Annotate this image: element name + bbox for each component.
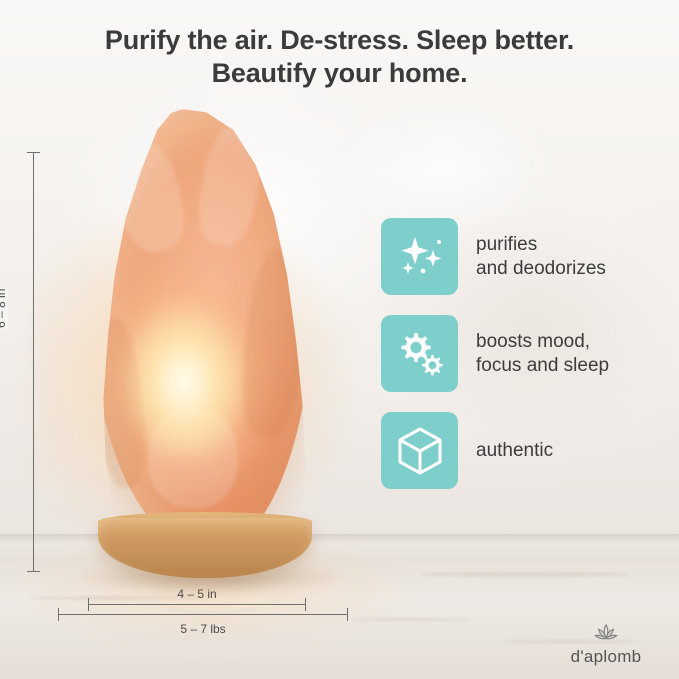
height-measure-label: 6 – 8 in [0, 285, 8, 332]
brand-name: d'aplomb [571, 647, 642, 666]
feature-item-boosts-mood: boosts mood, focus and sleep [381, 315, 669, 392]
brand-logo: d'aplomb [551, 623, 661, 667]
weight-measure-line [58, 614, 348, 615]
headline-line-1: Purify the air. De-stress. Sleep better. [105, 25, 574, 55]
weight-measure-label: 5 – 7 lbs [58, 622, 348, 636]
feature-item-authentic: authentic [381, 412, 669, 489]
width-measure-label: 4 – 5 in [88, 587, 306, 601]
feature-label: authentic [476, 439, 553, 463]
feature-item-purifies: purifies and deodorizes [381, 218, 669, 295]
feature-label: boosts mood, focus and sleep [476, 330, 609, 378]
sparkles-icon [381, 218, 458, 295]
marble-vein [420, 572, 630, 577]
salt-lamp-photo [72, 108, 332, 578]
height-measure-line [33, 152, 34, 572]
rock-facet [192, 122, 268, 250]
gears-icon [381, 315, 458, 392]
cube-icon [381, 412, 458, 489]
page-title: Purify the air. De-stress. Sleep better.… [0, 24, 679, 90]
feature-list: purifies and deodorizes boosts mood, foc… [381, 218, 669, 509]
headline-line-2: Beautify your home. [0, 57, 679, 90]
product-infographic: Purify the air. De-stress. Sleep better.… [0, 0, 679, 679]
lamp-inner-light [124, 308, 244, 458]
lotus-icon [593, 623, 619, 645]
feature-label: purifies and deodorizes [476, 233, 606, 281]
width-measure-line [88, 604, 306, 605]
